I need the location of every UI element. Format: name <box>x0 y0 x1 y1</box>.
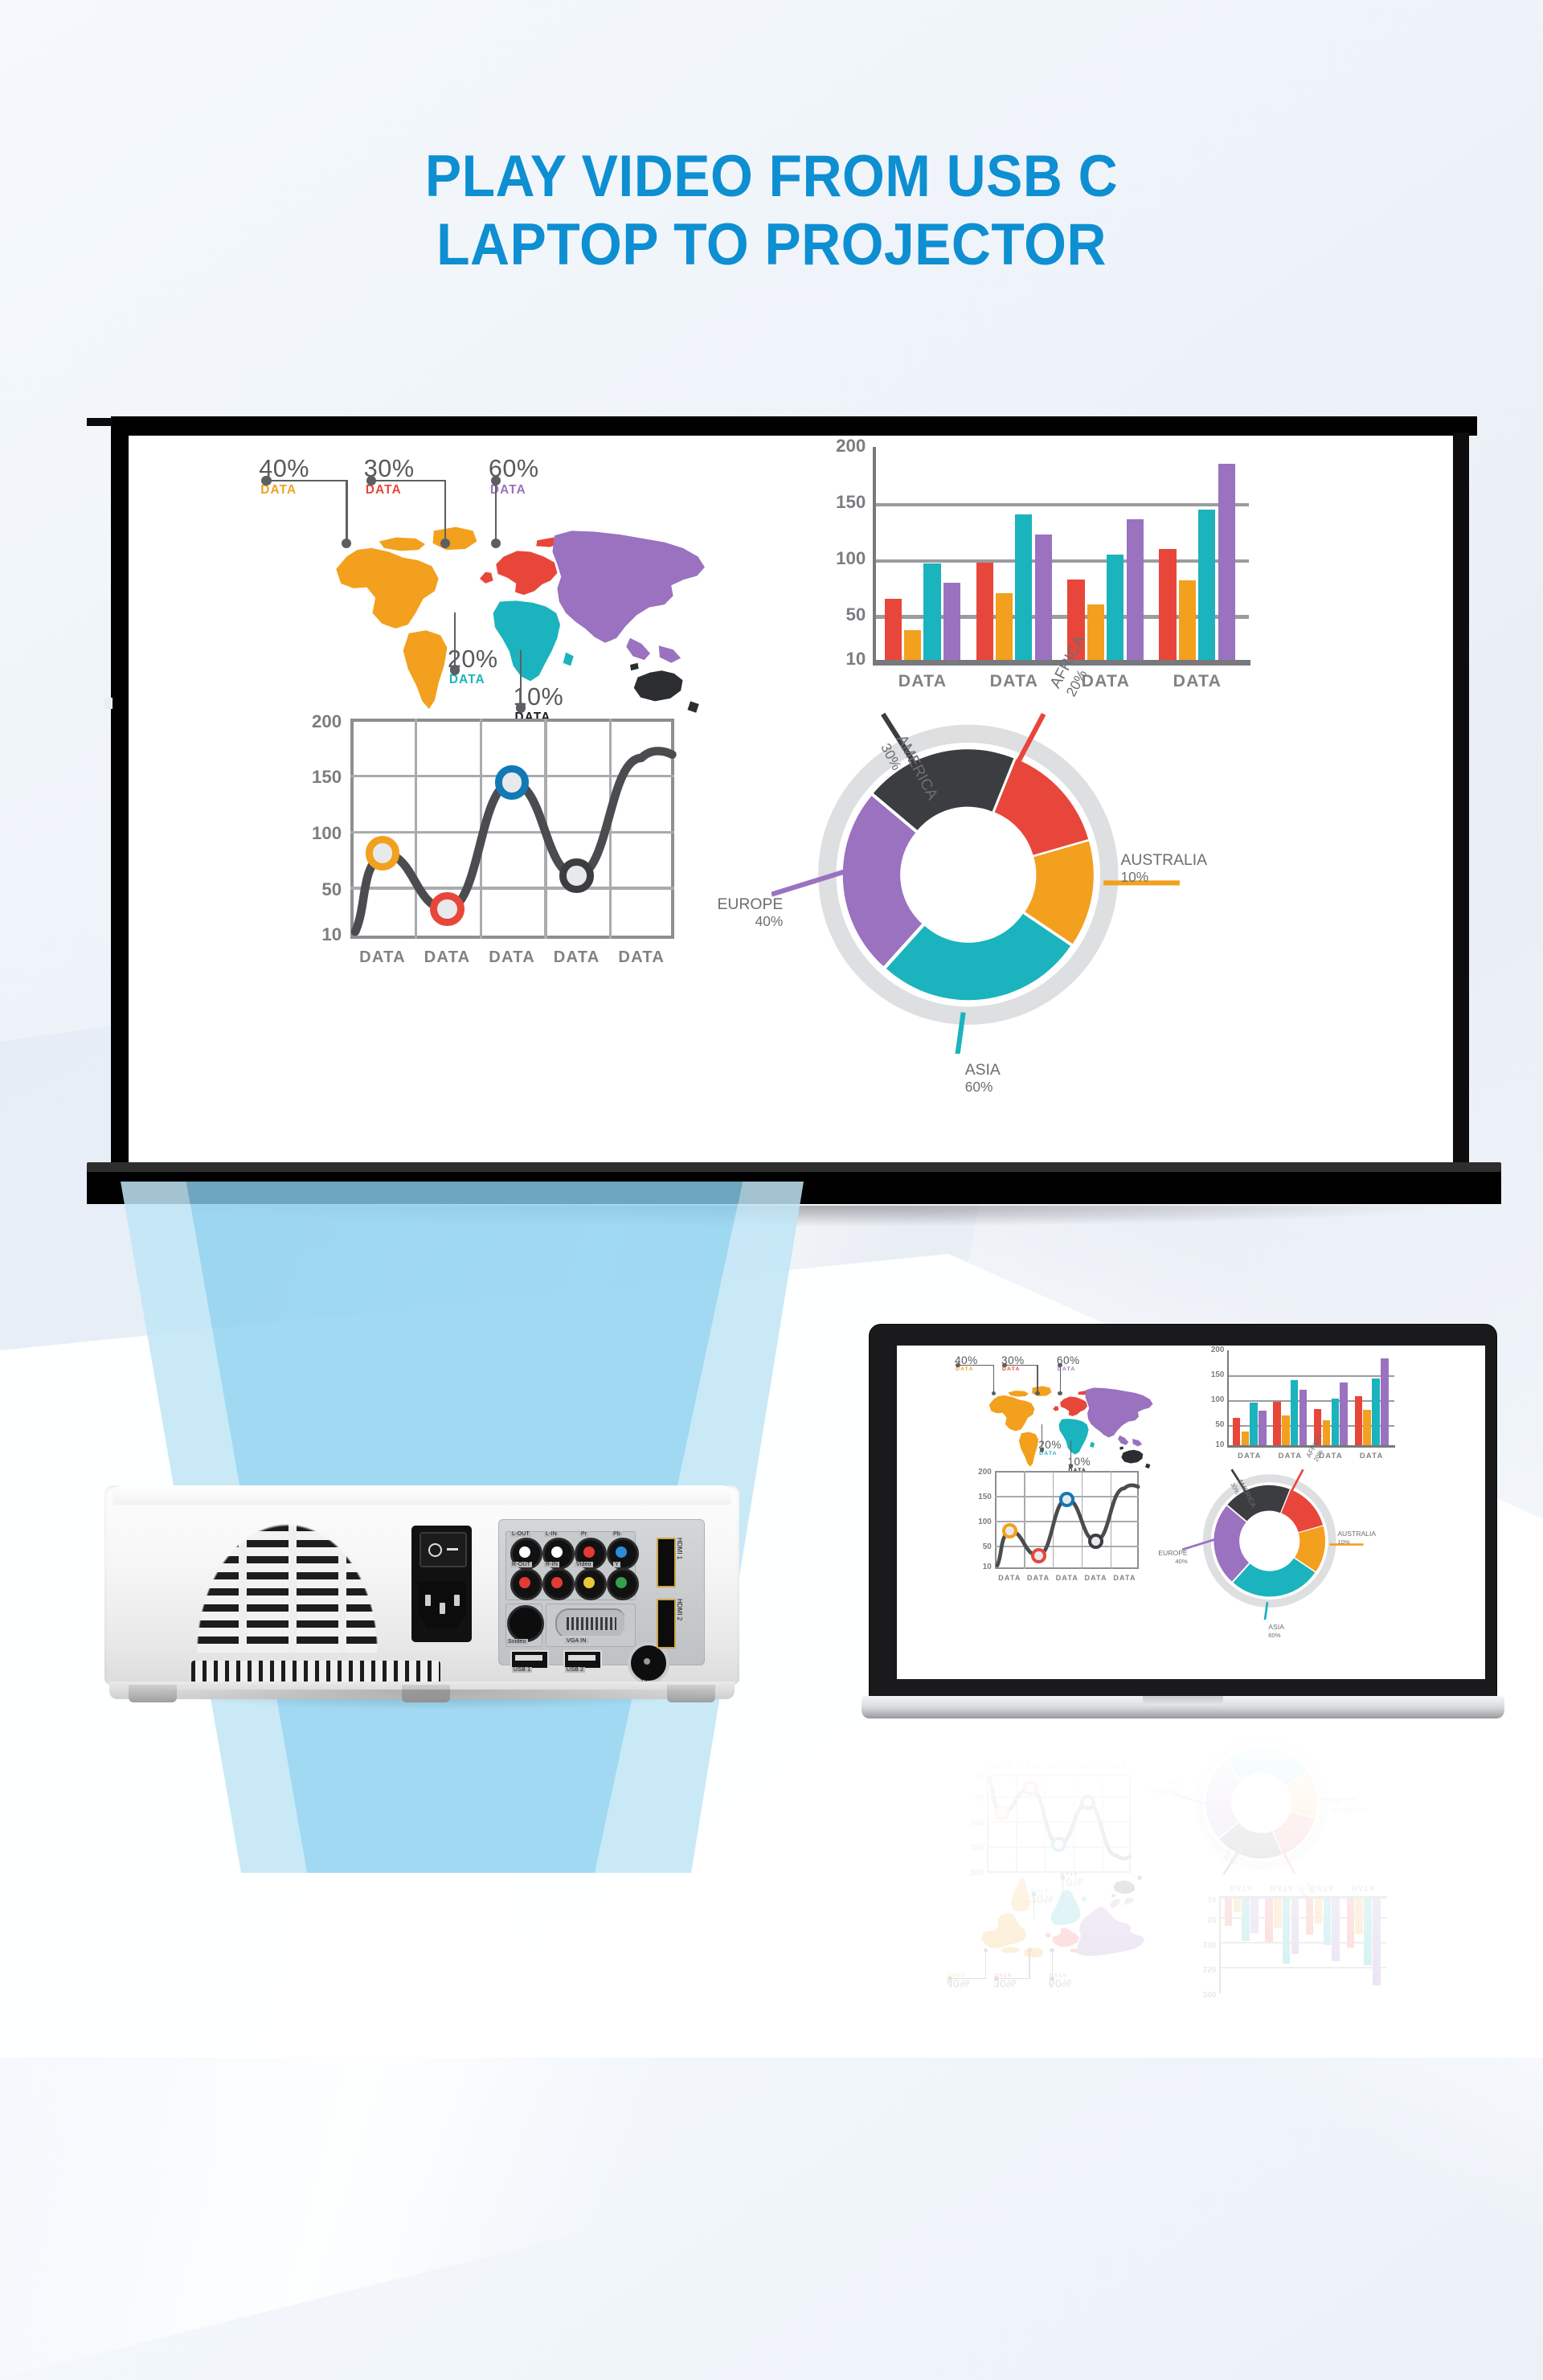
port-hdmi-1[interactable] <box>657 1538 676 1587</box>
bar-ytick: 10 <box>1196 1895 1216 1903</box>
line-category: DATA <box>480 948 545 967</box>
line-category: DATA <box>1074 1762 1103 1770</box>
label-l-in: L-IN <box>544 1531 559 1537</box>
line-category: DATA <box>544 948 609 967</box>
line-category: DATA <box>995 1574 1024 1582</box>
bar-series-purple-2 <box>1332 1899 1339 1961</box>
bar-series-purple-3 <box>1373 1899 1380 1985</box>
bar-ytick: 100 <box>1196 1940 1216 1948</box>
bar-series-purple-2 <box>1340 1383 1347 1445</box>
line-category: DATA <box>1045 1762 1074 1770</box>
bar-series-orange-1 <box>996 593 1013 661</box>
bar-series-orange-1 <box>1282 1415 1289 1445</box>
bar-series-red-1 <box>976 563 993 660</box>
map-data-europe: DATA <box>1002 1366 1021 1372</box>
line-marker-0 <box>994 1805 1009 1821</box>
laptop-device: 40%DATA30%DATA60%DATA20%DATA10%DATA20015… <box>862 1325 1504 1759</box>
line-category: DATA <box>1111 1574 1140 1582</box>
bar-series-red-1 <box>1273 1402 1280 1445</box>
bar-series-orange-3 <box>1355 1899 1362 1934</box>
title-line-1: PLAY VIDEO FROM USB C <box>54 143 1489 211</box>
bar-category: DATA <box>1227 1451 1271 1460</box>
power-on-icon <box>428 1543 442 1557</box>
line-category: DATA <box>415 948 480 967</box>
bar-series-orange-1 <box>1274 1899 1281 1928</box>
bar-series-red-0 <box>885 599 902 661</box>
screen-right-notch <box>1469 698 1477 709</box>
bar-series-purple-0 <box>1259 1411 1266 1445</box>
bar-series-red-3 <box>1347 1899 1354 1948</box>
bar-series-teal-0 <box>923 563 940 660</box>
line-marker-0 <box>1002 1523 1017 1538</box>
bar-series-orange-0 <box>1242 1432 1249 1445</box>
bar-series-teal-3 <box>1364 1899 1371 1965</box>
bar-series-red-0 <box>1233 1418 1240 1445</box>
bar-category: DATA <box>1148 672 1248 691</box>
projector-vent-grille <box>197 1524 378 1653</box>
line-category: DATA <box>1024 1574 1053 1582</box>
bar-ytick: 100 <box>820 548 866 569</box>
port-y[interactable] <box>607 1568 639 1600</box>
line-category: DATA <box>1053 1574 1082 1582</box>
bar-ytick: 150 <box>1204 1370 1224 1379</box>
bar-series-orange-0 <box>1234 1899 1241 1912</box>
bar-series-teal-1 <box>1291 1380 1298 1445</box>
screen-shadow <box>135 1206 1437 1227</box>
line-marker-1 <box>430 892 464 926</box>
laptop-reflection: 40%DATA30%DATA60%DATA20%DATA10%DATA20015… <box>870 1725 1496 2014</box>
bar-series-purple-0 <box>1250 1899 1258 1933</box>
map-data-america: DATA <box>956 1366 974 1372</box>
bar-series-purple-1 <box>1299 1390 1307 1445</box>
title-line-2: LAPTOP TO PROJECTOR <box>54 211 1489 280</box>
bar-series-orange-0 <box>904 630 921 661</box>
donut-label-australia: AUSTRALIA10% <box>1329 1798 1368 1813</box>
port-r-out[interactable] <box>510 1568 542 1600</box>
donut-label-asia: ASIA60% <box>965 1062 1001 1096</box>
label-usb-2: USB 2 <box>565 1667 585 1673</box>
label-svideo: Svideo <box>506 1639 528 1645</box>
line-category: DATA <box>1082 1574 1111 1582</box>
bar-series-purple-2 <box>1127 519 1144 661</box>
laptop-lid: 40%DATA30%DATA60%DATA20%DATA10%DATA20015… <box>870 1325 1496 1698</box>
label-l-out: L-OUT <box>510 1531 531 1537</box>
bar-series-purple-0 <box>943 583 960 660</box>
bar-series-teal-2 <box>1107 555 1123 660</box>
screen-top-bar <box>111 416 1477 436</box>
screen-left-notch <box>104 698 113 709</box>
label-usb-1: USB 1 <box>512 1667 532 1673</box>
bar-ytick: 100 <box>1204 1395 1224 1404</box>
bar-ytick: 10 <box>1204 1440 1224 1449</box>
bar-ytick: 200 <box>820 436 866 457</box>
bar-series-teal-2 <box>1324 1899 1331 1945</box>
bar-series-red-1 <box>1265 1899 1272 1942</box>
donut-label-australia: AUSTRALIA10% <box>1337 1530 1376 1546</box>
screen-display-area: 40%DATA30%DATA60%DATA20%DATA10%DATA20015… <box>129 436 1453 1165</box>
screen-right-post <box>1453 432 1469 1176</box>
projector-body: L-OUT L-IN Pr Pb R-OUT R-IN Video Y Svid… <box>104 1485 739 1685</box>
projector-device: L-OUT L-IN Pr Pb R-OUT R-IN Video Y Svid… <box>104 1479 739 1728</box>
line-category: DATA <box>1016 1762 1045 1770</box>
bar-category: DATA <box>1341 1884 1385 1893</box>
bar-series-red-3 <box>1159 549 1176 660</box>
bar-series-purple-1 <box>1291 1899 1299 1954</box>
bar-category: DATA <box>1219 1884 1263 1893</box>
bar-ytick: 200 <box>1196 1989 1216 1998</box>
label-y: Y <box>613 1562 620 1567</box>
label-video: Video <box>575 1562 593 1567</box>
projector-top-shell <box>113 1485 731 1505</box>
bar-series-teal-0 <box>1242 1899 1249 1941</box>
projector-shadow <box>153 1690 715 1710</box>
donut-label-europe: EUROPE40% <box>701 896 783 931</box>
power-socket[interactable] <box>418 1582 466 1628</box>
donut-label-europe: EUROPE40% <box>1151 1550 1187 1565</box>
line-category: DATA <box>1103 1762 1132 1770</box>
line-marker-2 <box>495 765 529 799</box>
label-r-in: R-IN <box>544 1562 559 1567</box>
donut-label-asia: ASIA60% <box>1268 1624 1284 1639</box>
bar-ytick: 50 <box>820 604 866 625</box>
label-pr: Pr <box>579 1531 588 1537</box>
bar-series-orange-3 <box>1179 580 1196 660</box>
port-vga[interactable] <box>555 1608 628 1639</box>
line-marker-1 <box>1023 1780 1038 1796</box>
bar-ytick: 150 <box>820 492 866 513</box>
bar-series-teal-1 <box>1283 1899 1290 1964</box>
line-marker-3 <box>1088 1534 1103 1549</box>
port-r-in[interactable] <box>542 1568 575 1600</box>
bar-ytick: 50 <box>1196 1915 1216 1923</box>
line-category: DATA <box>350 948 415 967</box>
donut-label-europe: EUROPE40% <box>1143 1778 1179 1793</box>
bar-series-teal-2 <box>1332 1399 1339 1445</box>
laptop-screen: 40%DATA30%DATA60%DATA20%DATA10%DATA20015… <box>897 1346 1485 1679</box>
line-marker-3 <box>559 858 593 892</box>
bar-series-orange-3 <box>1363 1410 1370 1445</box>
bar-series-purple-1 <box>1035 535 1052 660</box>
bar-series-teal-3 <box>1198 510 1215 660</box>
label-hdmi-1: HDMI 1 <box>676 1538 683 1559</box>
port-hdmi-2[interactable] <box>657 1599 676 1649</box>
screen-bottom-bar <box>87 1170 1501 1204</box>
donut-label-australia: AUSTRALIA10% <box>1121 852 1208 887</box>
bar-series-purple-3 <box>1218 464 1235 660</box>
bar-ytick: 200 <box>1204 1346 1224 1354</box>
port-video[interactable] <box>575 1568 607 1600</box>
bar-series-purple-3 <box>1381 1358 1388 1445</box>
line-marker-1 <box>1031 1548 1046 1563</box>
label-r-out: R-OUT <box>510 1562 532 1567</box>
line-category: DATA <box>987 1762 1016 1770</box>
screen-left-post <box>111 432 129 1188</box>
line-marker-0 <box>366 836 399 870</box>
line-category: DATA <box>609 948 674 967</box>
port-pb[interactable] <box>607 1538 639 1570</box>
bar-ytick: 10 <box>820 649 866 670</box>
label-vga: VGA IN <box>565 1638 588 1644</box>
bar-series-teal-1 <box>1015 514 1032 660</box>
power-switch[interactable] <box>420 1532 467 1567</box>
bar-series-red-0 <box>1225 1899 1232 1926</box>
port-svideo[interactable] <box>507 1605 544 1642</box>
line-marker-2 <box>1051 1837 1066 1852</box>
bar-category: DATA <box>873 672 973 691</box>
projection-screen: 40%DATA30%DATA60%DATA20%DATA10%DATA20015… <box>87 416 1497 1228</box>
laptop-dashboard: 40%DATA30%DATA60%DATA20%DATA10%DATA20015… <box>897 1346 1485 1679</box>
page-title: PLAY VIDEO FROM USB C LAPTOP TO PROJECTO… <box>54 143 1489 279</box>
projector-port-panel: L-OUT L-IN Pr Pb R-OUT R-IN Video Y Svid… <box>498 1519 705 1665</box>
dashboard: 40%DATA30%DATA60%DATA20%DATA10%DATA20015… <box>129 436 1453 1165</box>
bar-ytick: 50 <box>1204 1420 1224 1429</box>
bar-ytick: 150 <box>1196 1964 1216 1973</box>
laptop-latch-notch <box>1143 1696 1223 1706</box>
bar-category: DATA <box>1349 1451 1394 1460</box>
power-off-icon <box>447 1548 458 1550</box>
label-hdmi-2: HDMI 2 <box>676 1599 683 1620</box>
bar-series-teal-0 <box>1250 1403 1257 1445</box>
bar-series-teal-3 <box>1372 1378 1379 1445</box>
label-pb: Pb <box>612 1531 622 1537</box>
bar-series-red-3 <box>1355 1396 1362 1445</box>
